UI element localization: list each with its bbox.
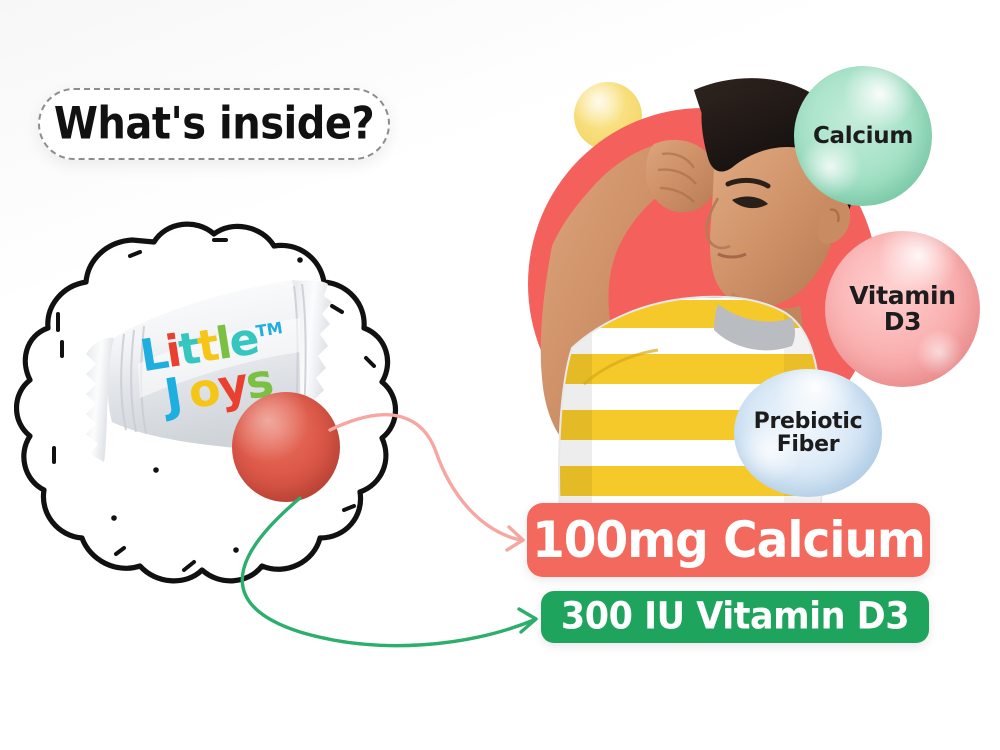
bubble-vitamin-d3-label: Vitamin D3: [849, 283, 956, 336]
page-title-label: What's inside?: [54, 98, 374, 150]
gummy-ball: [232, 392, 340, 502]
arrow-to-vitamind3-claim-head: [519, 609, 536, 632]
bubble-prebiotic-line1: Prebiotic: [754, 410, 863, 433]
badge-calcium: 100mg Calcium: [527, 503, 930, 577]
arrow-to-calcium-claim-head: [507, 527, 523, 550]
badge-vitamin-d3-label: 300 IU Vitamin D3: [561, 596, 909, 638]
bubble-vitamin-d3-line2: D3: [849, 309, 956, 336]
infographic-canvas: What's inside?: [0, 0, 1000, 750]
badge-calcium-label: 100mg Calcium: [532, 511, 925, 569]
bubble-prebiotic-line2: Fiber: [754, 433, 863, 456]
bubble-prebiotic-fiber: Prebiotic Fiber: [734, 369, 882, 497]
bubble-vitamin-d3-line1: Vitamin: [849, 283, 956, 310]
badge-vitamin-d3: 300 IU Vitamin D3: [541, 591, 929, 643]
bubble-calcium: Calcium: [794, 66, 932, 206]
bubble-prebiotic-fiber-label: Prebiotic Fiber: [754, 410, 863, 457]
bubble-calcium-label: Calcium: [813, 124, 913, 148]
bubble-vitamin-d3: Vitamin D3: [825, 231, 980, 387]
page-title: What's inside?: [38, 88, 390, 160]
